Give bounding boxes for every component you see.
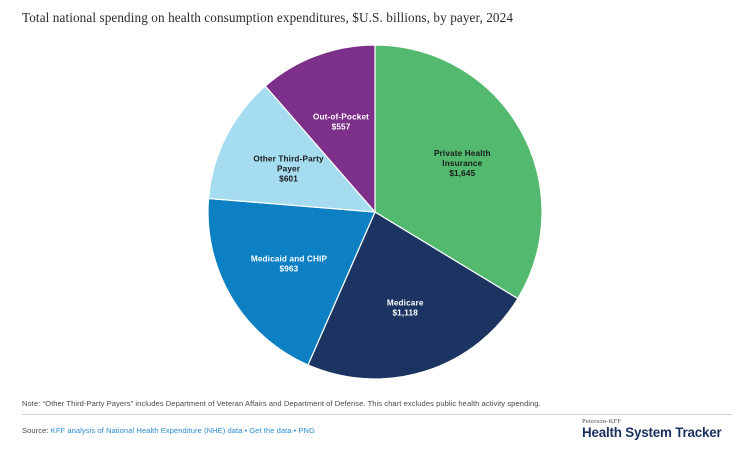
- pie-slice-label: Insurance: [442, 159, 482, 168]
- brand-logo[interactable]: Peterson-KFF Health System Tracker: [582, 418, 732, 440]
- pie-slice-value: $963: [280, 264, 299, 273]
- footer-divider: [22, 414, 732, 415]
- source-prefix: Source:: [22, 426, 49, 435]
- source-line: Source: KFF analysis of National Health …: [22, 425, 315, 437]
- pie-slice-value: $1,118: [392, 309, 418, 318]
- brand-title: Health System Tracker: [582, 426, 732, 440]
- pie-chart: Private HealthInsurance$1,645Medicare$1,…: [0, 26, 754, 392]
- footnote-text: Note: “Other Third-Party Payers” include…: [22, 398, 732, 409]
- pie-slice-label: Out-of-Pocket: [313, 112, 369, 121]
- pie-slice-value: $557: [332, 122, 351, 131]
- pie-slice-value: $1,645: [449, 169, 475, 178]
- source-kff-link[interactable]: KFF analysis of National Health Expendit…: [51, 426, 243, 435]
- pie-slice-value: $601: [279, 174, 298, 183]
- brand-organization: Peterson-KFF: [582, 418, 732, 425]
- get-the-data-link[interactable]: Get the data: [249, 426, 291, 435]
- pie-slice-label: Other Third-Party: [253, 154, 324, 163]
- pie-slice-label: Payer: [277, 164, 301, 173]
- pie-slice-label: Private Health: [434, 149, 491, 158]
- png-link[interactable]: PNG: [298, 426, 315, 435]
- pie-slice-group: [208, 45, 542, 379]
- pie-slice-label: Medicare: [387, 299, 424, 308]
- chart-plot-area: Private HealthInsurance$1,645Medicare$1,…: [0, 26, 754, 392]
- page-title: Total national spending on health consum…: [22, 10, 722, 26]
- pie-slice-label: Medicaid and CHIP: [251, 254, 328, 263]
- chart-footer: Note: “Other Third-Party Payers” include…: [0, 396, 754, 457]
